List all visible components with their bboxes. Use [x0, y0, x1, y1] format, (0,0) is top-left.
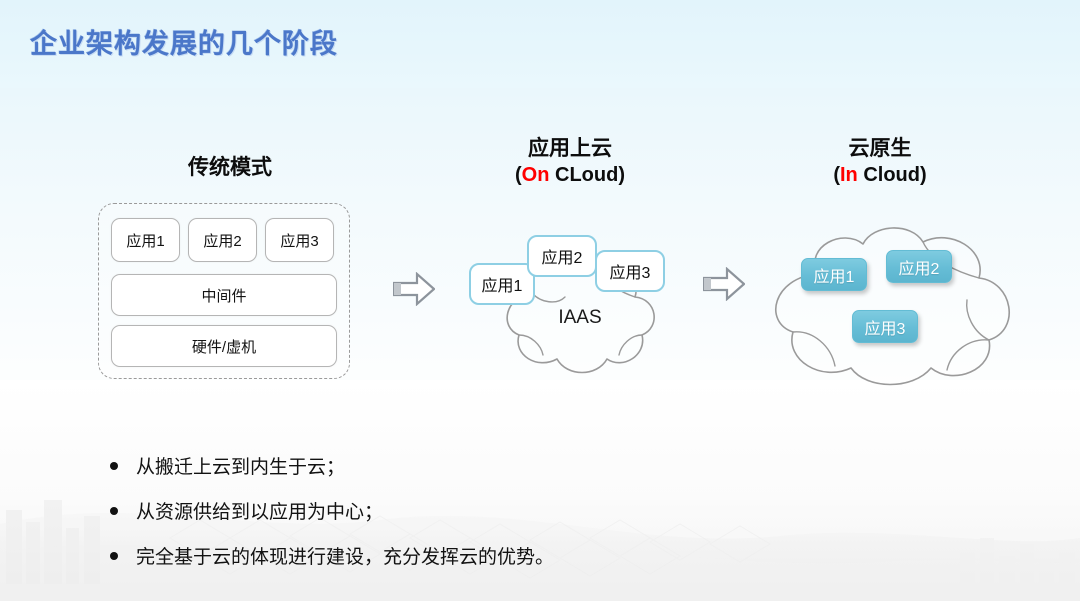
traditional-hardware-row: 硬件/虚机	[111, 325, 337, 367]
traditional-app-box[interactable]: 应用2	[188, 218, 257, 262]
arrow-right-icon	[393, 272, 435, 311]
cloud-native-app-tag[interactable]: 应用2	[886, 250, 952, 283]
on-cloud-app-tag[interactable]: 应用2	[527, 235, 597, 277]
summary-bullet-list: 从搬迁上云到内生于云； 从资源供给到以应用为中心； 完全基于云的体现进行建设，充…	[110, 452, 730, 587]
list-item: 从搬迁上云到内生于云；	[110, 452, 730, 479]
heading-highlight-in: In	[840, 164, 858, 186]
traditional-hardware-box[interactable]: 硬件/虚机	[111, 325, 337, 367]
cloud-native-cloud-shape	[755, 222, 1035, 387]
bullet-dot-icon	[110, 507, 118, 515]
iaas-cloud-label: IAAS	[485, 307, 675, 329]
traditional-middleware-box[interactable]: 中间件	[111, 274, 337, 316]
list-item: 从资源供给到以应用为中心；	[110, 497, 730, 524]
paren-open: (	[833, 164, 840, 186]
paren-open: (	[515, 164, 522, 186]
paren-close: )	[618, 164, 625, 186]
stage-heading-traditional-cn: 传统模式	[110, 155, 350, 182]
paren-close: )	[920, 164, 927, 186]
stage-heading-traditional: 传统模式	[110, 155, 350, 182]
stage-heading-cloud-native: 云原生 (In Cloud)	[760, 136, 1000, 188]
heading-highlight-on: On	[522, 164, 550, 186]
cloud-native-app-tag[interactable]: 应用1	[801, 258, 867, 291]
stage-heading-on-cloud-en: (On CLoud)	[450, 163, 690, 189]
on-cloud-app-tag[interactable]: 应用1	[469, 263, 535, 305]
stage-heading-cloud-native-en: (In Cloud)	[760, 163, 1000, 189]
traditional-stack-panel: 应用1 应用2 应用3 中间件 硬件/虚机	[98, 203, 350, 379]
stage-heading-cloud-native-cn: 云原生	[760, 136, 1000, 163]
bullet-dot-icon	[110, 462, 118, 470]
slide-canvas: 企业架构发展的几个阶段 传统模式 应用1 应用2 应用3 中间件 硬件/虚机 应…	[0, 0, 1080, 601]
stage-heading-on-cloud-cn: 应用上云	[450, 136, 690, 163]
list-item-text: 完全基于云的体现进行建设，充分发挥云的优势。	[136, 542, 554, 569]
traditional-app-box[interactable]: 应用1	[111, 218, 180, 262]
bullet-dot-icon	[110, 552, 118, 560]
stage-heading-on-cloud: 应用上云 (On CLoud)	[450, 136, 690, 188]
heading-rest-cloud: CLoud	[549, 164, 618, 186]
traditional-app-row: 应用1 应用2 应用3	[111, 218, 334, 262]
list-item-text: 从资源供给到以应用为中心；	[136, 497, 383, 524]
on-cloud-app-tag[interactable]: 应用3	[595, 250, 665, 292]
heading-rest-cloud: Cloud	[858, 164, 920, 186]
list-item-text: 从搬迁上云到内生于云；	[136, 452, 345, 479]
arrow-right-icon	[703, 267, 745, 306]
cloud-native-app-tag[interactable]: 应用3	[852, 310, 918, 343]
page-title: 企业架构发展的几个阶段	[30, 22, 338, 61]
traditional-middleware-row: 中间件	[111, 274, 337, 316]
list-item: 完全基于云的体现进行建设，充分发挥云的优势。	[110, 542, 730, 569]
traditional-app-box[interactable]: 应用3	[265, 218, 334, 262]
